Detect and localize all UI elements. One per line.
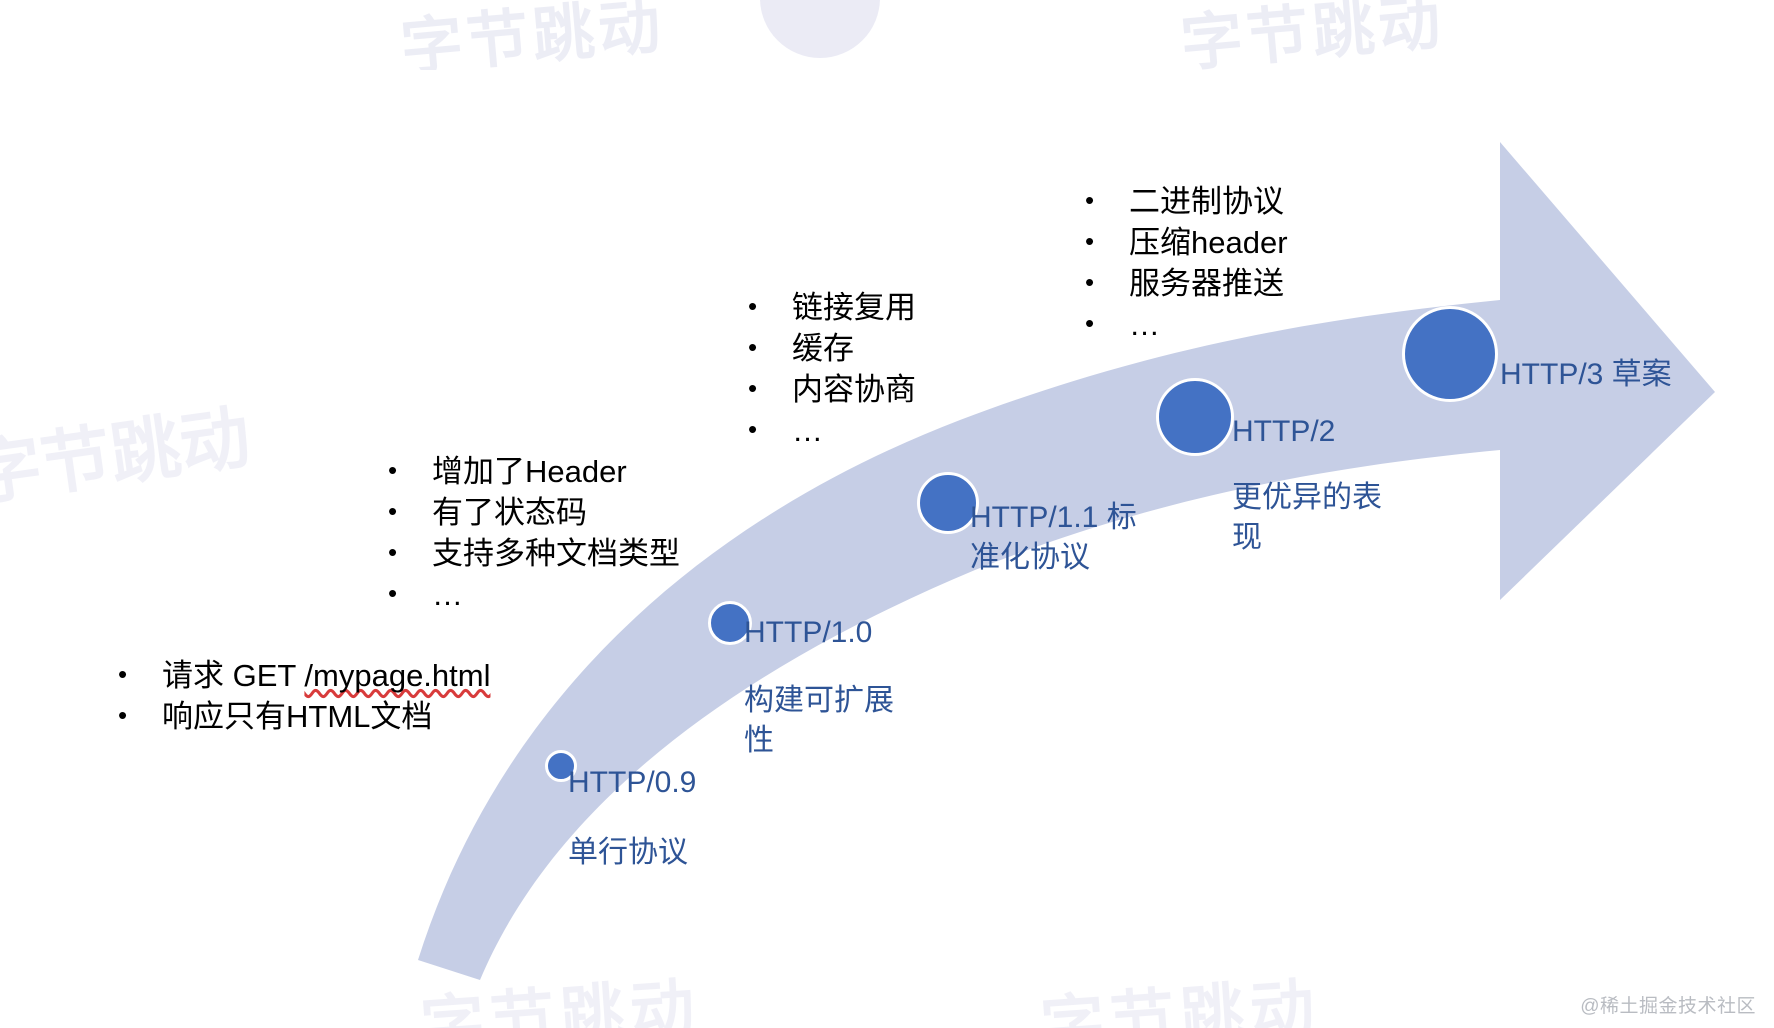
list-item: • … bbox=[1085, 305, 1288, 346]
bullet-marker-icon: • bbox=[388, 534, 432, 572]
decor-watermark-circle bbox=[760, 0, 880, 58]
bullets-http11: • 链接复用 • 缓存 • 内容协商 • … bbox=[748, 288, 916, 452]
bullet-text: 压缩header bbox=[1129, 223, 1288, 264]
timeline-arrow bbox=[0, 0, 1774, 1028]
milestone-title-http2: HTTP/2 bbox=[1232, 412, 1335, 452]
list-item: • 有了状态码 bbox=[388, 493, 680, 534]
milestone-subtitle-http10: 构建可扩展 性 bbox=[744, 681, 894, 761]
list-item: • 二进制协议 bbox=[1085, 182, 1288, 223]
list-item: • 压缩header bbox=[1085, 223, 1288, 264]
bullet-text: 二进制协议 bbox=[1129, 182, 1284, 223]
list-item: • 服务器推送 bbox=[1085, 264, 1288, 305]
decor-watermark-text: 字节跳动 bbox=[397, 0, 668, 70]
bullet-marker-icon: • bbox=[388, 493, 432, 531]
list-item: • 支持多种文档类型 bbox=[388, 534, 680, 575]
bullets-http09: • 请求 GET /mypage.html • 响应只有HTML文档 bbox=[118, 656, 490, 738]
bullet-marker-icon: • bbox=[1085, 305, 1129, 343]
list-item: • 内容协商 bbox=[748, 370, 916, 411]
bullet-text: … bbox=[792, 411, 823, 452]
list-item: • 响应只有HTML文档 bbox=[118, 697, 490, 738]
bullet-text: 请求 GET /mypage.html bbox=[162, 656, 490, 697]
bullet-text: … bbox=[1129, 305, 1160, 346]
bullet-text: 有了状态码 bbox=[432, 493, 587, 534]
bottom-watermark-band: 字节跳动 字节跳动 bbox=[0, 948, 1774, 1028]
list-item: • … bbox=[388, 575, 680, 616]
bullet-marker-icon: • bbox=[1085, 223, 1129, 261]
bullet-text: … bbox=[432, 575, 463, 616]
bullet-text: 增加了Header bbox=[432, 452, 627, 493]
list-item: • 增加了Header bbox=[388, 452, 680, 493]
decor-watermark-text: 字节跳动 bbox=[1037, 956, 1323, 1028]
top-watermark-band: 字节跳动 字节跳动 bbox=[0, 0, 1774, 70]
bullet-marker-icon: • bbox=[1085, 182, 1129, 220]
bullet-text: 支持多种文档类型 bbox=[432, 534, 680, 575]
community-watermark: @稀土掘金技术社区 bbox=[1580, 991, 1756, 1018]
bullets-http2: • 二进制协议 • 压缩header • 服务器推送 • … bbox=[1085, 182, 1288, 346]
bullet-text: 内容协商 bbox=[792, 370, 916, 411]
decor-watermark-text: 字节跳动 bbox=[1177, 0, 1448, 70]
bullet-marker-icon: • bbox=[1085, 264, 1129, 302]
list-item: • 请求 GET /mypage.html bbox=[118, 656, 490, 697]
milestone-title-http09: HTTP/0.9 bbox=[568, 763, 696, 803]
bullet-text: 缓存 bbox=[792, 329, 854, 370]
bullet-marker-icon: • bbox=[118, 697, 162, 735]
list-item: • 链接复用 bbox=[748, 288, 916, 329]
decor-watermark-side: 字节跳动 bbox=[0, 381, 256, 520]
slide-canvas: 字节跳动 字节跳动 字节跳动 字节跳动 字节跳动 • 请求 GET /mypag… bbox=[0, 0, 1774, 1028]
bullet-text: 响应只有HTML文档 bbox=[162, 697, 432, 738]
milestone-subtitle-http09: 单行协议 bbox=[568, 833, 688, 873]
bullet-text: 服务器推送 bbox=[1129, 264, 1284, 305]
milestone-title-http3: HTTP/3 草案 bbox=[1500, 355, 1672, 395]
bullet-marker-icon: • bbox=[748, 370, 792, 408]
milestone-node-http3[interactable] bbox=[1402, 306, 1498, 402]
milestone-node-http2[interactable] bbox=[1156, 378, 1234, 456]
milestone-title-http10: HTTP/1.0 bbox=[744, 613, 872, 653]
bullet-marker-icon: • bbox=[748, 411, 792, 449]
list-item: • … bbox=[748, 411, 916, 452]
bullet-marker-icon: • bbox=[748, 329, 792, 367]
bullet-marker-icon: • bbox=[748, 288, 792, 326]
bullet-marker-icon: • bbox=[118, 656, 162, 694]
decor-watermark-text: 字节跳动 bbox=[417, 956, 703, 1028]
bullet-marker-icon: • bbox=[388, 452, 432, 490]
list-item: • 缓存 bbox=[748, 329, 916, 370]
milestone-subtitle-http2: 更优异的表 现 bbox=[1232, 478, 1382, 558]
bullet-text: 链接复用 bbox=[792, 288, 916, 329]
milestone-title-http11: HTTP/1.1 标 准化协议 bbox=[970, 498, 1137, 578]
bullet-marker-icon: • bbox=[388, 575, 432, 613]
bullets-http10: • 增加了Header • 有了状态码 • 支持多种文档类型 • … bbox=[388, 452, 680, 616]
